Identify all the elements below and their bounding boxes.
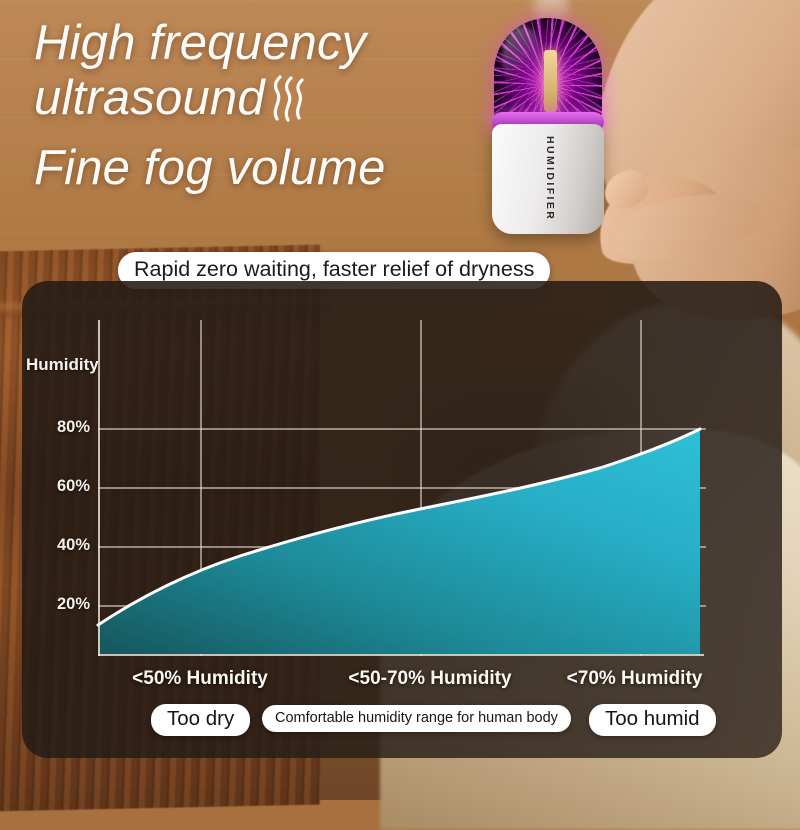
steam-waves-icon: [267, 74, 309, 127]
badge-comfortable: Comfortable humidity range for human bod…: [262, 705, 571, 732]
x-axis-line: [98, 654, 704, 656]
headline: High frequency ultrasound Fine fog volum…: [34, 16, 504, 196]
product-brand-label: HUMIDIFIER: [544, 136, 556, 221]
badge-too-humid: Too humid: [589, 704, 716, 736]
y-axis-title: Humidity: [26, 355, 99, 375]
headline-line-1: High frequency: [34, 16, 504, 71]
y-tick-label: 20%: [28, 595, 90, 614]
humidifier-dome: [494, 18, 602, 126]
dome-glass-reflection: [502, 26, 542, 90]
gridline-horizontal: [98, 605, 706, 607]
badge-too-dry: Too dry: [151, 704, 250, 736]
dome-core-light: [544, 50, 557, 112]
y-tick-label: 80%: [28, 418, 90, 437]
x-category-label-high: <70% Humidity: [552, 668, 717, 690]
y-tick-label: 40%: [28, 536, 90, 555]
headline-line-2: ultrasound: [34, 71, 265, 126]
x-category-label-mid: <50-70% Humidity: [325, 668, 535, 690]
headline-line-3: Fine fog volume: [34, 141, 504, 196]
x-category-label-low: <50% Humidity: [110, 668, 290, 690]
y-tick-label: 60%: [28, 477, 90, 496]
gridline-horizontal: [98, 546, 706, 548]
gridline-horizontal: [98, 487, 706, 489]
gridline-horizontal: [98, 428, 706, 430]
